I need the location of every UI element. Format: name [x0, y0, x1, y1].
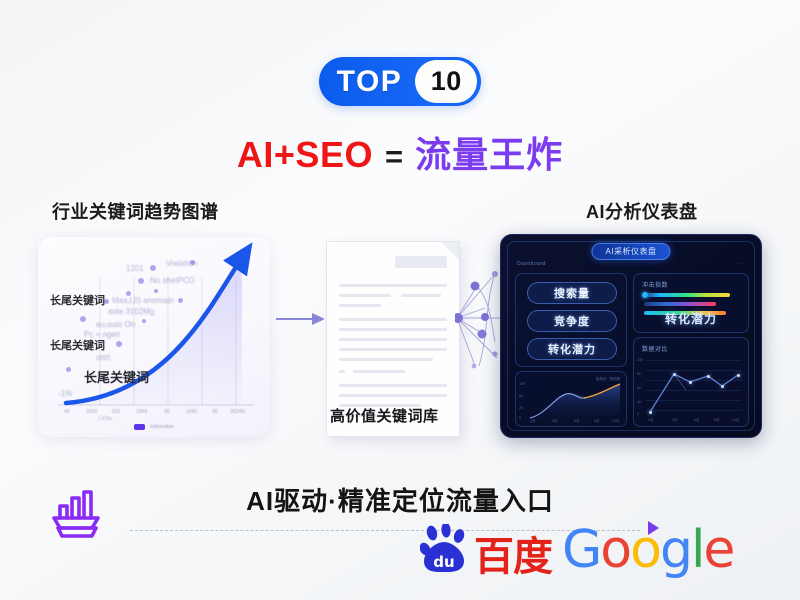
- data-point: [707, 375, 710, 378]
- x-tick: 49: [64, 409, 70, 415]
- keyword-tag: 长尾关键词: [50, 337, 105, 353]
- scatter-dot: [66, 367, 71, 372]
- x-tick: 1844: [136, 409, 147, 415]
- scatter-dot: [190, 260, 195, 265]
- ai-dashboard: AI采析仪表盘 Dashboard ··· 搜索量 竞争度 转化潜力 趋势线 ·…: [500, 234, 762, 438]
- scatter-dot: [154, 289, 158, 293]
- scatter-dot: [116, 341, 122, 347]
- x-tick: 12月: [612, 419, 619, 424]
- x-tick: 1040: [186, 409, 197, 415]
- data-point: [673, 373, 676, 376]
- google-letter: g: [660, 520, 691, 580]
- data-point: [721, 385, 724, 388]
- gauge-handle[interactable]: [642, 292, 648, 298]
- section-label-dashboard: AI分析仪表盘: [586, 198, 698, 224]
- scatter-dot: [142, 319, 146, 323]
- metrics-panel: 搜索量 竞争度 转化潜力: [515, 273, 627, 367]
- document-label: 高价值关键词库: [330, 405, 439, 426]
- x-tick: 9月: [594, 419, 599, 424]
- title-ai-seo: AI+SEO: [237, 134, 373, 176]
- data-point: [649, 411, 652, 414]
- top-badge-number: 10: [415, 60, 477, 103]
- process-arrow-icon: [276, 311, 324, 327]
- baidu-logo: du 百度: [420, 524, 552, 576]
- blur-word: ortrt: [96, 353, 110, 362]
- trend-chart: 1201 Vrelation No sheIPCO Maa,l,0) anoma…: [38, 237, 270, 437]
- keyword-trend-card: 1201 Vrelation No sheIPCO Maa,l,0) anoma…: [38, 237, 270, 437]
- blur-word: avta 3102Mg: [108, 307, 154, 316]
- gauge-main-label: 转化潜力: [634, 310, 748, 327]
- data-point: [737, 374, 740, 377]
- google-letter: e: [703, 520, 733, 580]
- keyword-tag: 长尾关键词: [50, 292, 105, 308]
- data-point: [689, 381, 692, 384]
- blur-word: eu,ouio On: [96, 320, 135, 329]
- gauge-bar: [644, 302, 716, 306]
- blur-word: -1%: [58, 389, 72, 398]
- x-tick: 3月: [672, 418, 677, 423]
- top-badge-container: TOP 10: [0, 57, 800, 106]
- google-letter: o: [600, 520, 630, 580]
- legend-swatch-icon: [134, 424, 145, 430]
- x-tick: 12月: [732, 418, 739, 423]
- section-label-trend: 行业关键词趋势图谱: [52, 198, 219, 224]
- x-tick: 3340: [86, 409, 97, 415]
- keyword-tag: 长尾关键词: [84, 367, 149, 386]
- play-triangle-icon: [648, 521, 659, 535]
- footer-headline: AI驱动·精准定位流量入口: [0, 481, 800, 518]
- legend-label: indexvalue: [150, 424, 174, 430]
- dashboard-menu-icon[interactable]: ···: [735, 261, 747, 267]
- x-tick: 3月: [552, 419, 557, 424]
- line-chart-svg: [634, 338, 750, 428]
- data-bars-icon: [48, 484, 110, 542]
- x-tick: 1月: [530, 419, 535, 424]
- blur-word: Maa,l,0) anomain: [112, 296, 174, 305]
- x-tick: 9月: [714, 418, 719, 423]
- x-tick: 6月: [694, 418, 699, 423]
- partner-logos: du 百度 Google: [420, 524, 733, 576]
- x-tick: 48: [212, 409, 218, 415]
- google-letter: G: [562, 520, 600, 580]
- x-tick: 1月: [648, 418, 653, 423]
- google-letter: l: [691, 520, 703, 580]
- x-tick: 6月: [574, 419, 579, 424]
- page-title: AI+SEO = 流量王炸: [0, 126, 800, 178]
- comparison-line-panel: 数据对比 100 80 60 40 0 1月 3月 6月 9月 12月: [633, 337, 749, 427]
- scatter-dot: [126, 291, 131, 296]
- title-traffic: 流量王炸: [415, 126, 563, 178]
- scatter-dot: [178, 298, 183, 303]
- metric-pill-conversion[interactable]: 转化潜力: [527, 338, 617, 360]
- x-tick: 48: [164, 409, 170, 415]
- dashboard-title-chip: AI采析仪表盘: [591, 243, 670, 260]
- scatter-dot: [138, 278, 144, 284]
- doc-header-block: [395, 256, 447, 268]
- x-tick: 001: [112, 409, 120, 415]
- baidu-cn-text: 百度: [474, 538, 552, 576]
- metric-pill-search-volume[interactable]: 搜索量: [527, 282, 617, 304]
- top-badge: TOP 10: [319, 57, 482, 106]
- area-chart-panel: 趋势线 · 预测值 100 60 20 0 1月 3月 6月 9月 12月: [515, 371, 627, 427]
- x-axis-sublabel: 1 EDu: [98, 416, 112, 422]
- title-equals: =: [385, 139, 403, 175]
- blur-word: No sheIPCO: [150, 276, 195, 285]
- gauge-panel-title: 冲击指数: [642, 280, 668, 289]
- top-badge-label: TOP: [337, 67, 416, 97]
- impact-gauge-panel: 冲击指数 转化潜力: [633, 273, 749, 333]
- gauge-bar: [644, 293, 730, 297]
- baidu-paw-icon: du: [420, 524, 474, 576]
- x-tick: 3024N: [230, 409, 245, 415]
- baidu-du-text: du: [433, 553, 454, 571]
- scatter-dot: [80, 316, 86, 322]
- dashboard-subtitle: Dashboard: [517, 261, 546, 267]
- metric-pill-competition[interactable]: 竞争度: [527, 310, 617, 332]
- chart-legend: indexvalue: [38, 424, 270, 430]
- blur-word: 1201: [126, 264, 144, 273]
- scatter-dot: [150, 265, 156, 271]
